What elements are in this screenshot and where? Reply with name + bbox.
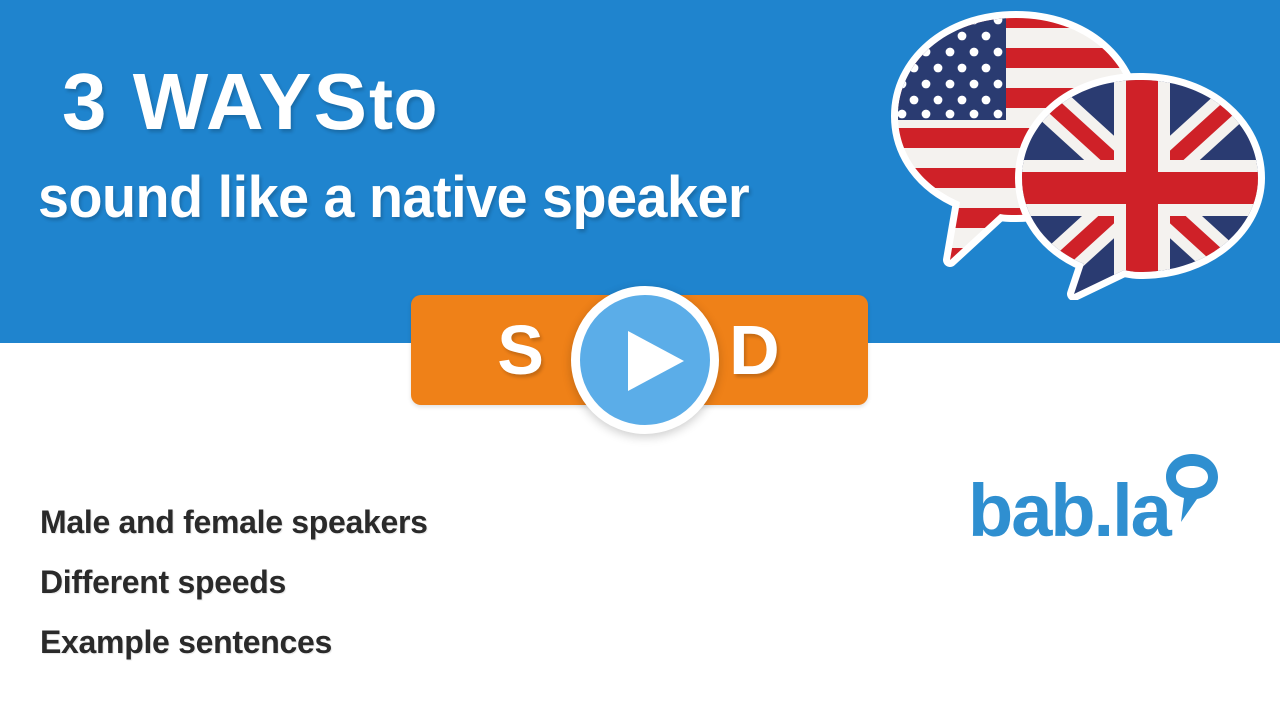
flag-bubbles-graphic xyxy=(888,8,1280,300)
word-letter-4: D xyxy=(729,310,782,390)
feature-line-1: Male and female speakers xyxy=(40,492,740,552)
uk-flag-bubble xyxy=(1018,74,1266,300)
brand-name: bab.la xyxy=(968,474,1170,548)
feature-list: Male and female speakers Different speed… xyxy=(40,492,740,672)
play-button[interactable] xyxy=(571,286,719,434)
headline-strong: 3 WAYS xyxy=(62,57,369,146)
subheadline: sound like a native speaker xyxy=(38,168,883,229)
play-triangle-icon xyxy=(628,331,684,391)
headline: 3 WAYSto xyxy=(62,62,882,142)
word-letter-1: S xyxy=(497,310,546,390)
headline-light: to xyxy=(369,65,438,145)
feature-line-2: Different speeds xyxy=(40,552,740,612)
brand-logo: bab.la xyxy=(968,452,1218,564)
video-thumbnail: 3 WAYSto sound like a native speaker xyxy=(0,0,1280,720)
feature-line-3: Example sentences xyxy=(40,612,740,672)
speech-bubble-icon xyxy=(1164,452,1220,543)
